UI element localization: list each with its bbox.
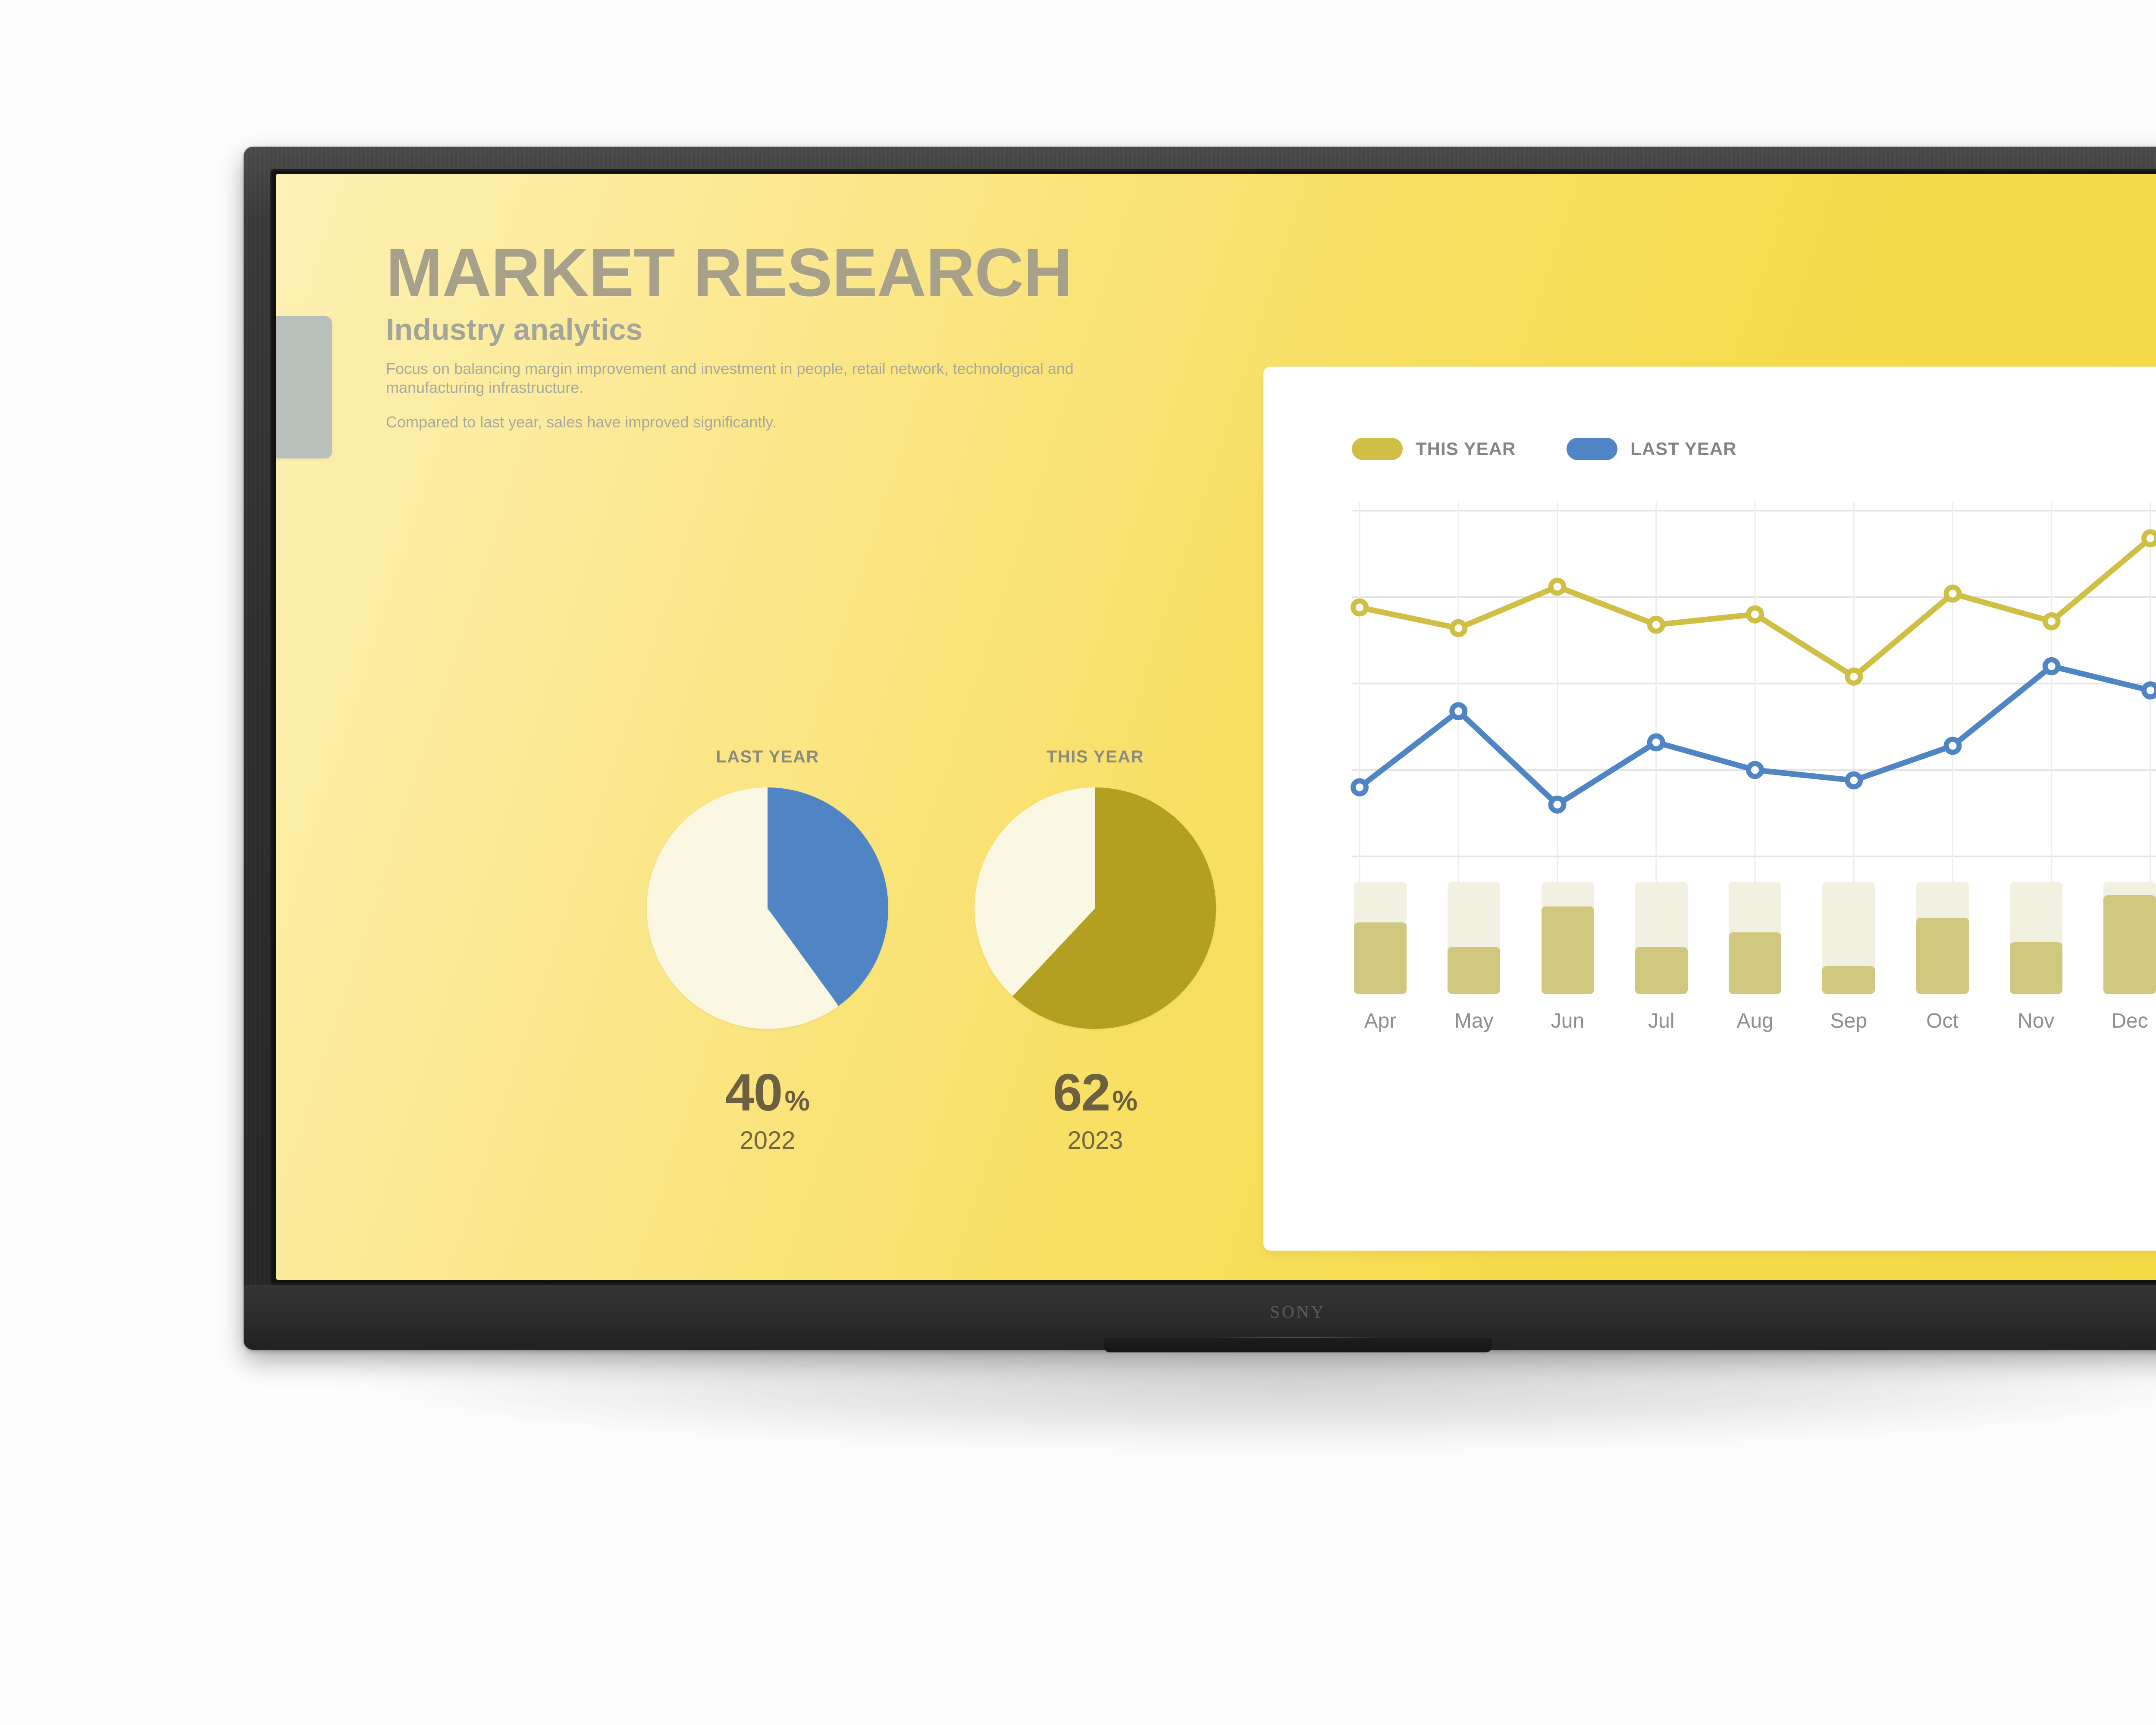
slide-text-column: MARKET RESEARCH Industry analytics Focus… <box>386 238 1291 432</box>
bar-track <box>1729 882 1781 994</box>
bar-fill <box>1729 932 1781 994</box>
page-subtitle: Industry analytics <box>386 314 1291 345</box>
legend-label-last-year: LAST YEAR <box>1630 439 1736 459</box>
line-chart <box>1352 505 2156 862</box>
pie-percent-sign-last-year: % <box>785 1085 810 1117</box>
pie-year-last-year: 2022 <box>604 1128 931 1153</box>
bar-fill <box>1448 947 1500 994</box>
pie-value-last-year: 40% <box>604 1066 931 1119</box>
pie-card-this-year: THIS YEAR 62% 2023 <box>931 747 1259 1153</box>
bar-track <box>1635 882 1688 994</box>
bar-track <box>1822 882 1875 994</box>
bar-track <box>1448 882 1500 994</box>
pie-chart-this-year <box>975 787 1216 1029</box>
month-label: Aug <box>1729 1009 1781 1033</box>
television-device: Financial Statement MARKET RESEARCH Indu… <box>244 147 2156 1350</box>
pie-year-this-year: 2023 <box>931 1128 1259 1153</box>
legend-swatch-last-year <box>1567 438 1617 460</box>
legend-swatch-this-year <box>1352 438 1403 460</box>
tv-stand-foot <box>1104 1338 1492 1352</box>
body-paragraph-2: Compared to last year, sales have improv… <box>386 413 1132 432</box>
bar-chart-axis-labels: AprMayJunJulAugSepOctNovDec <box>1354 1009 2156 1033</box>
bar-track <box>2010 882 2062 994</box>
bar-fill <box>1916 918 1969 994</box>
pie-header-this-year: THIS YEAR <box>931 747 1259 767</box>
pie-number-this-year: 62 <box>1053 1063 1110 1122</box>
month-label: Dec <box>2103 1009 2156 1033</box>
chart-legend: THIS YEAR LAST YEAR <box>1352 438 1737 460</box>
legend-item-this-year: THIS YEAR <box>1352 438 1516 460</box>
tv-drop-shadow <box>216 1328 2156 1509</box>
month-label: Nov <box>2010 1009 2062 1033</box>
bar-track <box>2103 882 2156 994</box>
month-label: Sep <box>1822 1009 1875 1033</box>
pie-header-last-year: LAST YEAR <box>604 747 931 767</box>
body-paragraph-1: Focus on balancing margin improvement an… <box>386 359 1132 397</box>
bar-track <box>1354 882 1407 994</box>
bar-chart <box>1354 882 2156 994</box>
pie-card-last-year: LAST YEAR 40% 2022 <box>604 747 931 1153</box>
month-label: Jul <box>1635 1009 1688 1033</box>
decorative-gray-block <box>276 316 332 458</box>
pie-percent-sign-this-year: % <box>1112 1085 1138 1117</box>
month-label: Oct <box>1916 1009 1969 1033</box>
bar-fill <box>1635 947 1688 994</box>
sony-brand-logo: SONY <box>1270 1302 1326 1322</box>
month-label: Jun <box>1542 1009 1594 1033</box>
bar-track <box>1542 882 1594 994</box>
pie-chart-last-year <box>647 787 888 1029</box>
pie-value-this-year: 62% <box>931 1066 1259 1119</box>
month-label: Apr <box>1354 1009 1407 1033</box>
page-title: MARKET RESEARCH <box>386 238 1291 307</box>
legend-label-this-year: THIS YEAR <box>1416 439 1516 459</box>
bar-fill <box>1822 966 1875 994</box>
bar-track <box>1916 882 1969 994</box>
bar-fill <box>2103 895 2156 994</box>
analytics-card: THIS YEAR LAST YEAR AprMayJunJulAugSepOc… <box>1263 367 2156 1251</box>
pie-number-last-year: 40 <box>725 1063 782 1122</box>
month-label: May <box>1448 1009 1500 1033</box>
slide-screen: Financial Statement MARKET RESEARCH Indu… <box>276 174 2156 1280</box>
bar-fill <box>2010 942 2062 994</box>
legend-item-last-year: LAST YEAR <box>1567 438 1736 460</box>
bar-fill <box>1542 906 1594 994</box>
line-chart-svg <box>1352 505 2156 862</box>
bar-fill <box>1354 922 1407 994</box>
